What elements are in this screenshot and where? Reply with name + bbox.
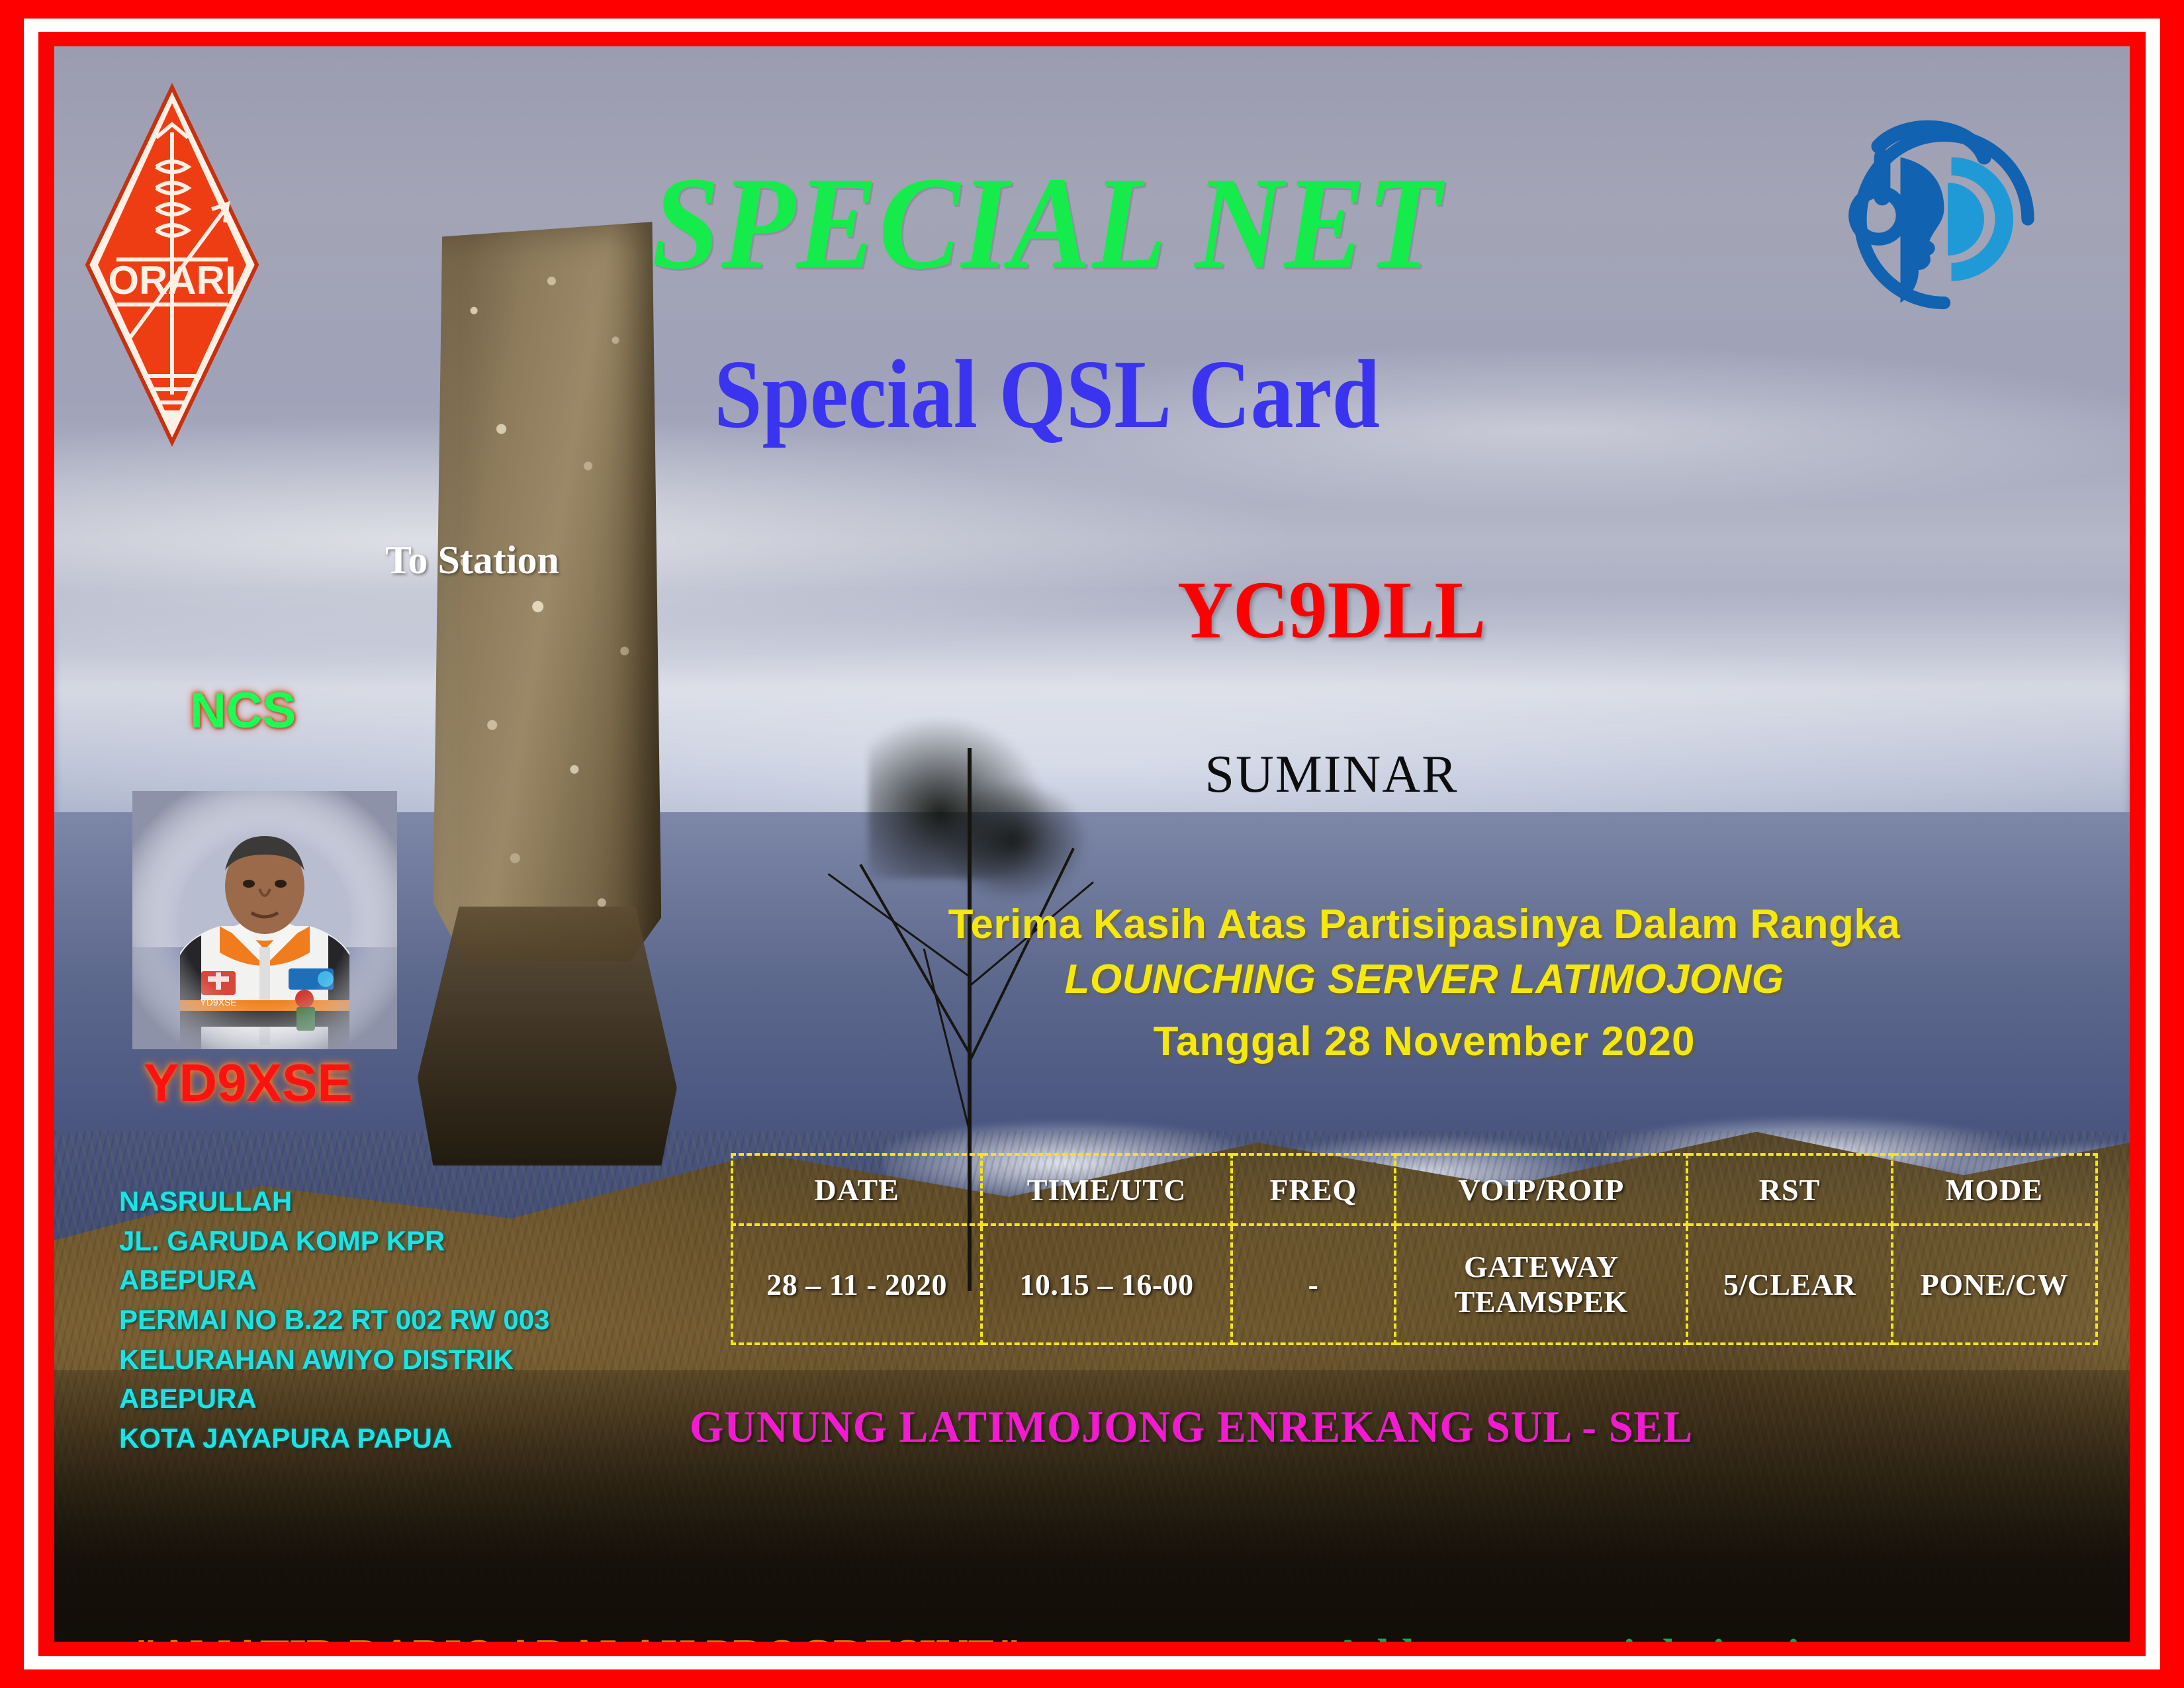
- column-header-freq: FREQ: [1232, 1154, 1395, 1225]
- ncs-label: NCS: [190, 682, 296, 739]
- address-line: PERMAI NO B.22 RT 002 RW 003: [119, 1300, 715, 1340]
- page-title: SPECIAL NET: [535, 158, 1559, 290]
- cell-voip: GATEWAY TEAMSPEK: [1395, 1225, 1687, 1344]
- column-header-date: DATE: [732, 1154, 981, 1225]
- table-header-row: DATE TIME/UTC FREQ VOIP/ROIP RST MODE: [732, 1154, 2097, 1225]
- to-station-label: To Station: [385, 538, 559, 583]
- cell-voip-line-2: TEAMSPEK: [1396, 1284, 1686, 1319]
- thanks-line-1: Terima Kasih Atas Partisipasinya Dalam R…: [769, 900, 2079, 949]
- address-line: ABEPURA: [119, 1260, 715, 1300]
- qsl-card-frame: ORARI SPECIAL NET Special QSL Card To St…: [0, 0, 2184, 1688]
- cell-voip-line-1: GATEWAY: [1396, 1249, 1686, 1284]
- column-header-time: TIME/UTC: [981, 1154, 1231, 1225]
- table-row: 28 – 11 - 2020 10.15 – 16-00 - GATEWAY T…: [732, 1225, 2097, 1344]
- address-block: NASRULLAH JL. GARUDA KOMP KPR ABEPURA PE…: [119, 1182, 715, 1458]
- qso-table: DATE TIME/UTC FREQ VOIP/ROIP RST MODE 28…: [731, 1153, 2098, 1345]
- column-header-mode: MODE: [1892, 1154, 2097, 1225]
- ncs-callsign: YD9XSE: [144, 1053, 353, 1113]
- address-line: ABEPURA: [119, 1379, 715, 1419]
- thanks-line-2: LOUNCHING SERVER LATIMOJONG: [769, 949, 2079, 1010]
- card-background-photo: ORARI SPECIAL NET Special QSL Card To St…: [54, 46, 2130, 1642]
- address-line: KELURAHAN AWIYO DISTRIK: [119, 1340, 715, 1380]
- cell-date: 28 – 11 - 2020: [732, 1225, 981, 1344]
- address-line: KOTA JAYAPURA PAPUA: [119, 1419, 715, 1458]
- page-subtitle: Special QSL Card: [558, 346, 1536, 444]
- address-line: NASRULLAH: [119, 1182, 715, 1221]
- address-line: JL. GARUDA KOMP KPR: [119, 1221, 715, 1261]
- card-content-layer: ORARI SPECIAL NET Special QSL Card To St…: [54, 46, 2130, 1642]
- operator-name: SUMINAR: [934, 748, 1729, 801]
- thanks-line-3: Tanggal 28 November 2020: [769, 1010, 2079, 1074]
- station-callsign: YC9DLL: [958, 569, 1705, 651]
- cell-time: 10.15 – 16-00: [981, 1225, 1231, 1344]
- cell-freq: -: [1232, 1225, 1395, 1344]
- column-header-voip: VOIP/ROIP: [1395, 1154, 1687, 1225]
- location-caption: GUNUNG LATIMOJONG ENREKANG SUL - SEL: [690, 1401, 1909, 1453]
- column-header-rst: RST: [1687, 1154, 1891, 1225]
- footer-motto: "AMATIR RADIO ADALAH PROGRESIVE": [134, 1630, 1022, 1642]
- cell-rst: 5/CLEAR: [1687, 1225, 1891, 1344]
- thanks-block: Terima Kasih Atas Partisipasinya Dalam R…: [769, 900, 2079, 1074]
- footer-address: Address : amatir.latimojong.com: [1332, 1630, 1961, 1642]
- cell-mode: PONE/CW: [1892, 1225, 2097, 1344]
- headset-profile-logo: [1839, 110, 2057, 328]
- orari-logo-text: ORARI: [108, 258, 236, 303]
- avatar: YD9XSE: [132, 791, 397, 1049]
- orari-logo: ORARI: [79, 79, 265, 450]
